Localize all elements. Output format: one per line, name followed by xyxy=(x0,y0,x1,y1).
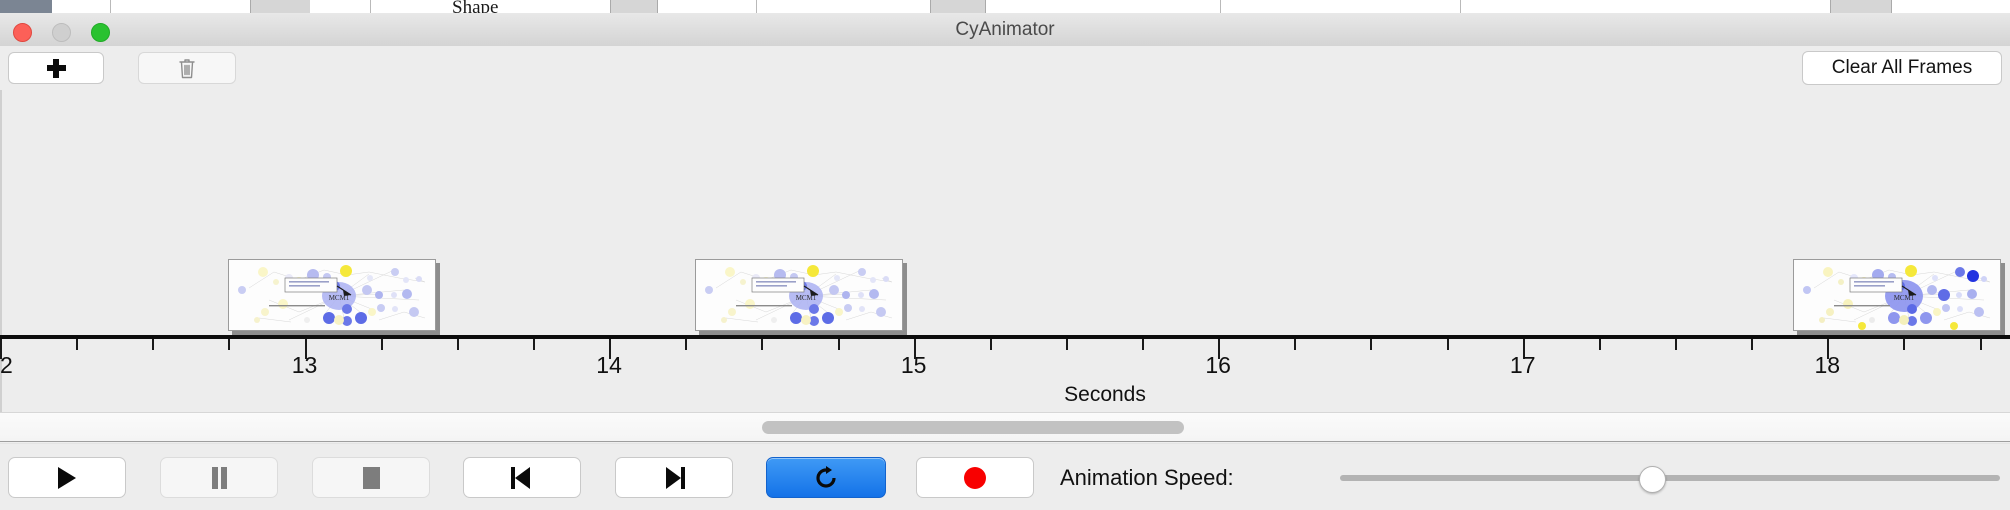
axis-minor-tick xyxy=(381,339,383,350)
delete-frame-button[interactable] xyxy=(138,52,236,84)
axis-minor-tick xyxy=(1980,339,1982,350)
axis-tick-label: 15 xyxy=(901,352,927,379)
frame-thumbnail: MCM1 xyxy=(1793,259,2001,331)
timeline-frame-1[interactable]: MCM1 xyxy=(228,259,440,335)
axis-minor-tick xyxy=(228,339,230,350)
plus-icon xyxy=(47,59,66,78)
clear-all-frames-label: Clear All Frames xyxy=(1832,57,1972,79)
axis-minor-tick xyxy=(1675,339,1677,350)
axis-minor-tick xyxy=(533,339,535,350)
background-app-strip: Shape xyxy=(0,0,2010,14)
axis-minor-tick xyxy=(76,339,78,350)
title-bar: CyAnimator xyxy=(0,13,2010,47)
timeline-axis-line xyxy=(0,335,2010,339)
stop-button[interactable] xyxy=(312,457,430,498)
axis-tick-label: 12 xyxy=(0,352,13,379)
stop-icon xyxy=(363,467,380,489)
axis-minor-tick xyxy=(152,339,154,350)
slider-thumb[interactable] xyxy=(1639,466,1666,493)
pause-button[interactable] xyxy=(160,457,278,498)
previous-frame-button[interactable] xyxy=(463,457,581,498)
svg-text:MCM1: MCM1 xyxy=(329,294,350,302)
play-button[interactable] xyxy=(8,457,126,498)
slider-track[interactable] xyxy=(1340,475,2000,481)
axis-minor-tick xyxy=(1751,339,1753,350)
next-frame-button[interactable] xyxy=(615,457,733,498)
axis-minor-tick xyxy=(1066,339,1068,350)
background-dark-tab xyxy=(0,0,52,14)
axis-minor-tick xyxy=(1294,339,1296,350)
axis-minor-tick xyxy=(1142,339,1144,350)
cyanimator-window: Shape CyAnimator Clear All Frames xyxy=(0,0,2010,510)
loop-button[interactable] xyxy=(766,457,886,498)
frame-thumbnail: MCM1 xyxy=(695,259,903,331)
frame-thumbnail: MCM1 xyxy=(228,259,436,331)
clear-all-frames-button[interactable]: Clear All Frames xyxy=(1802,51,2002,85)
axis-minor-tick xyxy=(1370,339,1372,350)
axis-minor-tick xyxy=(990,339,992,350)
axis-caption: Seconds xyxy=(1064,383,1146,407)
axis-tick-label: 14 xyxy=(596,352,622,379)
background-shape-label: Shape xyxy=(452,0,498,14)
loop-icon xyxy=(813,465,839,491)
animation-speed-slider[interactable] xyxy=(1340,444,2000,510)
record-button[interactable] xyxy=(916,457,1034,498)
timeline-frame-2[interactable]: MCM1 xyxy=(695,259,907,335)
svg-text:MCM1: MCM1 xyxy=(796,294,817,302)
axis-minor-tick xyxy=(1903,339,1905,350)
add-frame-button[interactable] xyxy=(8,52,104,84)
axis-tick-label: 17 xyxy=(1510,352,1536,379)
timeline-frame-3[interactable]: MCM1 xyxy=(1793,259,2005,335)
window-title: CyAnimator xyxy=(0,13,2010,46)
axis-minor-tick xyxy=(685,339,687,350)
play-icon xyxy=(58,467,76,489)
skip-forward-icon xyxy=(663,467,685,489)
axis-minor-tick xyxy=(1599,339,1601,350)
svg-text:MCM1: MCM1 xyxy=(1894,294,1915,302)
skip-back-icon xyxy=(511,467,533,489)
pause-icon xyxy=(211,467,228,489)
axis-minor-tick xyxy=(761,339,763,350)
axis-minor-tick xyxy=(1447,339,1449,350)
playback-control-bar: Animation Speed: xyxy=(0,443,2010,510)
axis-minor-tick xyxy=(838,339,840,350)
frame-toolbar: Clear All Frames xyxy=(0,46,2010,91)
axis-minor-tick xyxy=(457,339,459,350)
axis-tick-label: 13 xyxy=(292,352,318,379)
axis-tick-label: 16 xyxy=(1205,352,1231,379)
scrollbar-thumb[interactable] xyxy=(762,421,1184,434)
animation-speed-label: Animation Speed: xyxy=(1060,444,1234,510)
record-icon xyxy=(964,467,986,489)
axis-tick-label: 18 xyxy=(1814,352,1840,379)
trash-icon xyxy=(178,58,196,79)
timeline-horizontal-scrollbar[interactable] xyxy=(0,412,2010,442)
timeline-panel[interactable]: MCM1 xyxy=(0,90,2010,412)
